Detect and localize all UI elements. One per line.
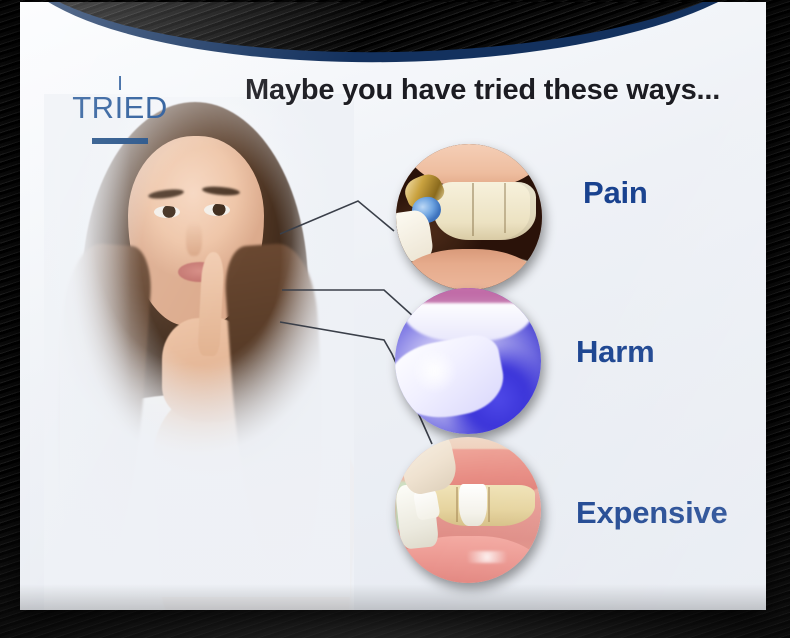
white-veneer-tooth bbox=[459, 484, 487, 526]
label-harm: Harm bbox=[576, 334, 654, 370]
light-hotspot bbox=[410, 349, 460, 393]
thumbnail-expensive[interactable] bbox=[395, 437, 541, 583]
tooth-gap-2 bbox=[504, 183, 506, 233]
eye-right bbox=[204, 204, 230, 216]
logo-underline-bar bbox=[92, 138, 148, 144]
expensive-photo bbox=[395, 437, 541, 583]
pain-photo bbox=[396, 144, 542, 290]
tooth-gap-1 bbox=[456, 487, 458, 522]
brand-logo: I TRIED bbox=[60, 78, 180, 144]
thumbnail-harm[interactable] bbox=[395, 288, 541, 434]
thumbnail-pain[interactable] bbox=[396, 144, 542, 290]
harm-photo bbox=[395, 288, 541, 434]
lip-highlight bbox=[459, 551, 514, 563]
nose bbox=[186, 222, 202, 256]
label-expensive: Expensive bbox=[576, 495, 728, 531]
hero-photo bbox=[44, 94, 354, 610]
banner-card: I TRIED Maybe you have tried these ways.… bbox=[20, 2, 766, 610]
tooth-gap-1 bbox=[472, 183, 474, 236]
upper-teeth bbox=[434, 182, 536, 240]
page-title: Maybe you have tried these ways... bbox=[245, 74, 766, 107]
label-pain: Pain bbox=[583, 175, 648, 211]
tooth-gap-2 bbox=[488, 487, 490, 522]
eye-left bbox=[154, 206, 180, 218]
logo-wordmark: TRIED bbox=[60, 91, 180, 124]
